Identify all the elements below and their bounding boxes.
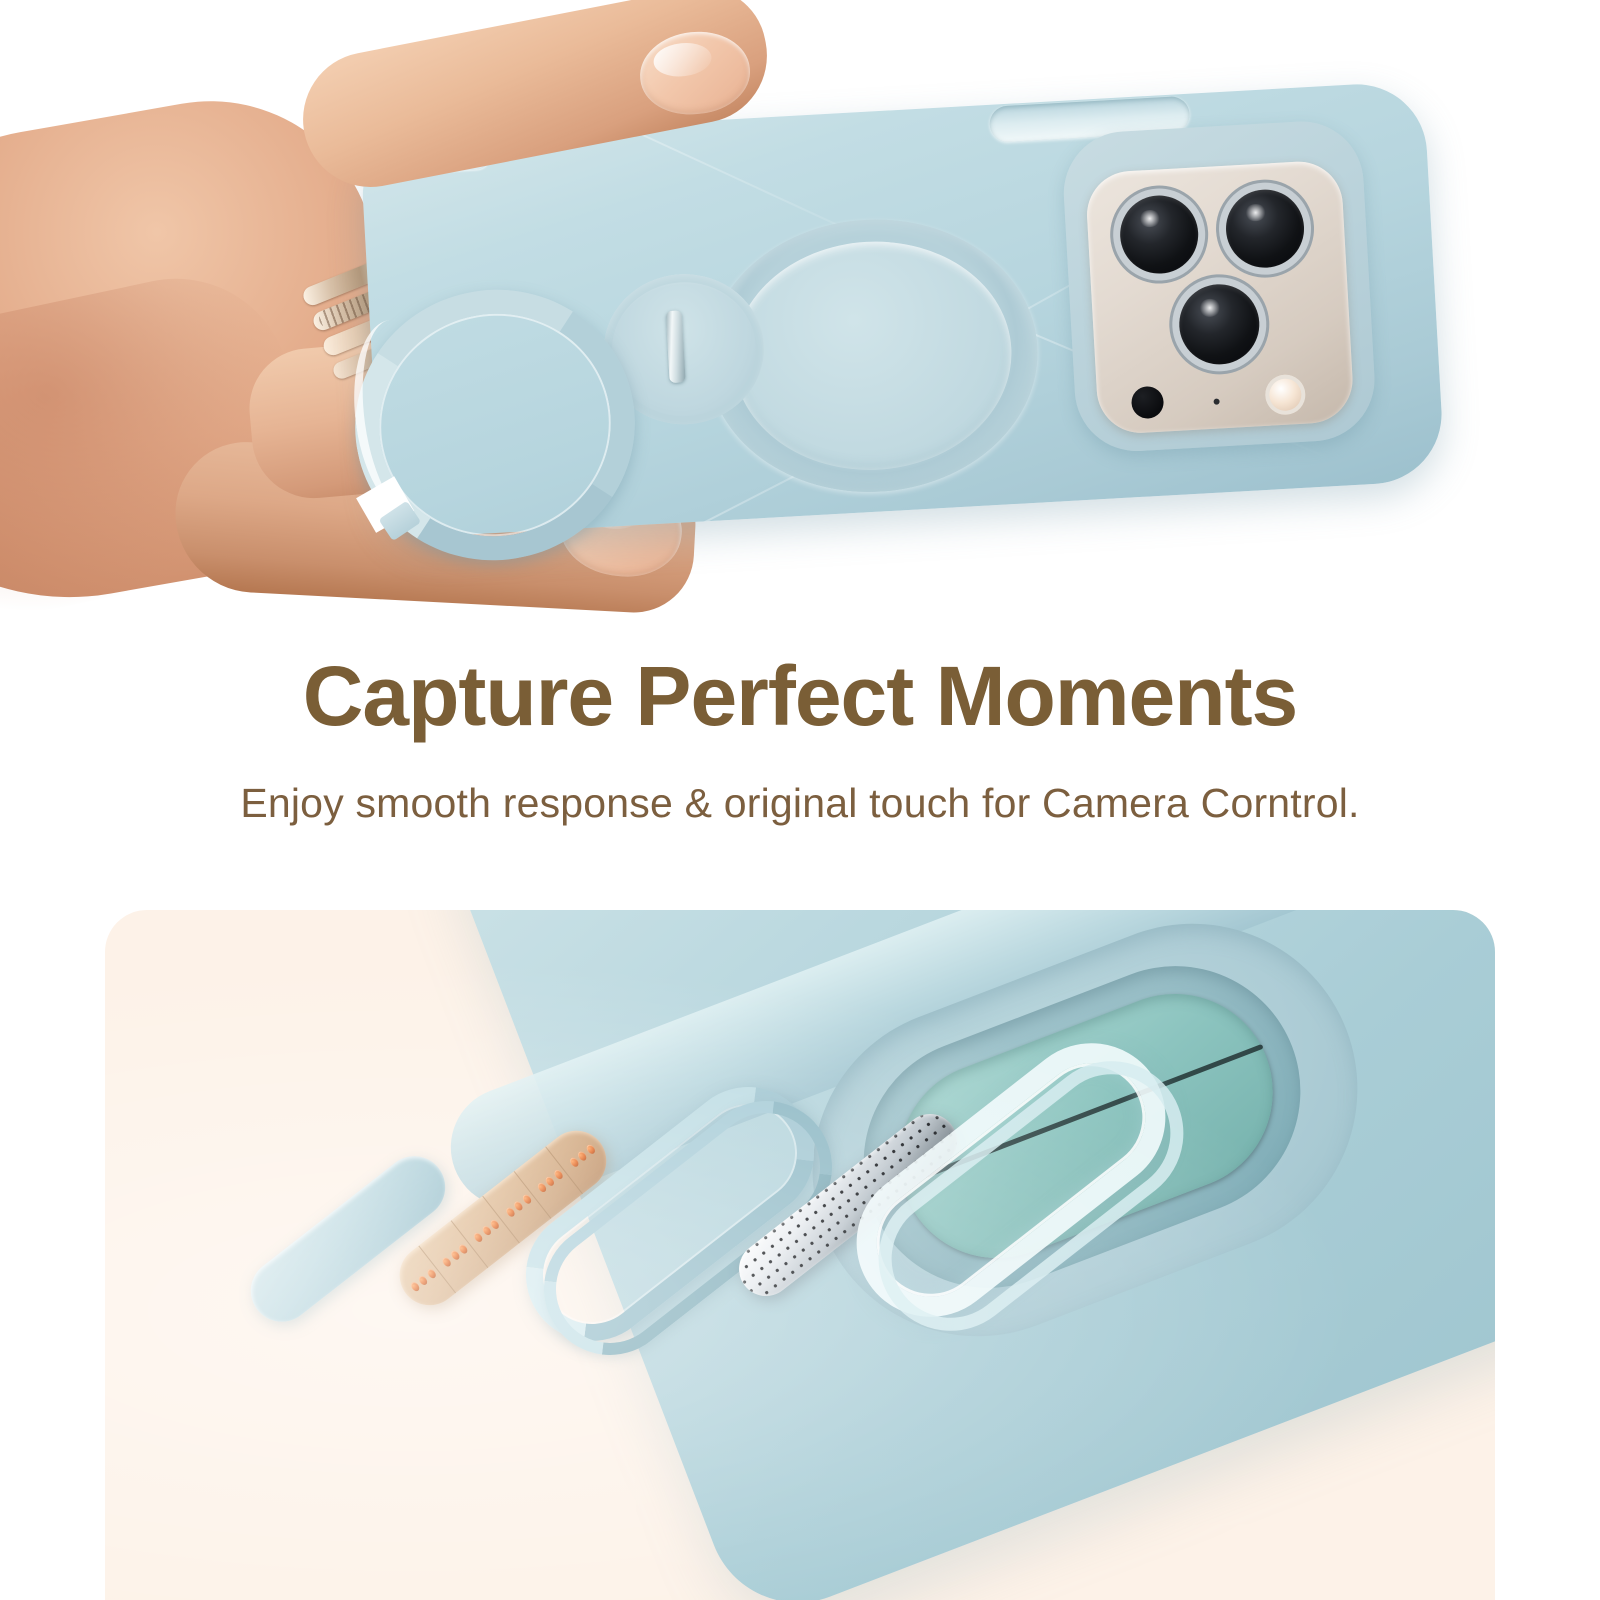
- lidar-sensor-icon: [1131, 386, 1165, 420]
- flash-icon: [1264, 374, 1306, 416]
- contact-dot: [457, 1243, 469, 1255]
- page-subtitle: Enjoy smooth response & original touch f…: [0, 780, 1600, 827]
- exploded-view-panel: [105, 910, 1495, 1600]
- hero-product-photo: TORRAS: [0, 0, 1600, 620]
- contact-dot: [585, 1143, 597, 1155]
- camera-plateau: TORRAS: [1060, 118, 1377, 454]
- microphone-icon: [1213, 398, 1219, 404]
- contact-dot: [473, 1231, 485, 1243]
- contact-dot: [544, 1175, 556, 1187]
- contact-dot: [409, 1281, 421, 1293]
- contact-dot: [489, 1218, 501, 1230]
- contact-dot: [513, 1200, 525, 1212]
- page-title: Capture Perfect Moments: [0, 648, 1600, 745]
- ultrawide-lens: [1224, 188, 1306, 270]
- copy-section: Capture Perfect Moments Enjoy smooth res…: [0, 620, 1600, 910]
- wide-lens: [1118, 193, 1200, 275]
- camera-island: [1085, 159, 1355, 435]
- contact-dot: [426, 1268, 438, 1280]
- contact-dot: [577, 1150, 589, 1162]
- contact-dot: [417, 1274, 429, 1286]
- contact-dot: [504, 1206, 516, 1218]
- contact-dot: [441, 1256, 453, 1268]
- telephoto-lens: [1177, 282, 1261, 366]
- contact-dot: [553, 1169, 565, 1181]
- contact-dot: [521, 1193, 533, 1205]
- contact-dot: [449, 1249, 461, 1261]
- finger-ring-kickstand: [330, 264, 660, 586]
- contact-dot: [536, 1181, 548, 1193]
- layer-button-cap: [238, 1144, 457, 1334]
- contact-dot: [481, 1225, 493, 1237]
- contact-dot: [568, 1156, 580, 1168]
